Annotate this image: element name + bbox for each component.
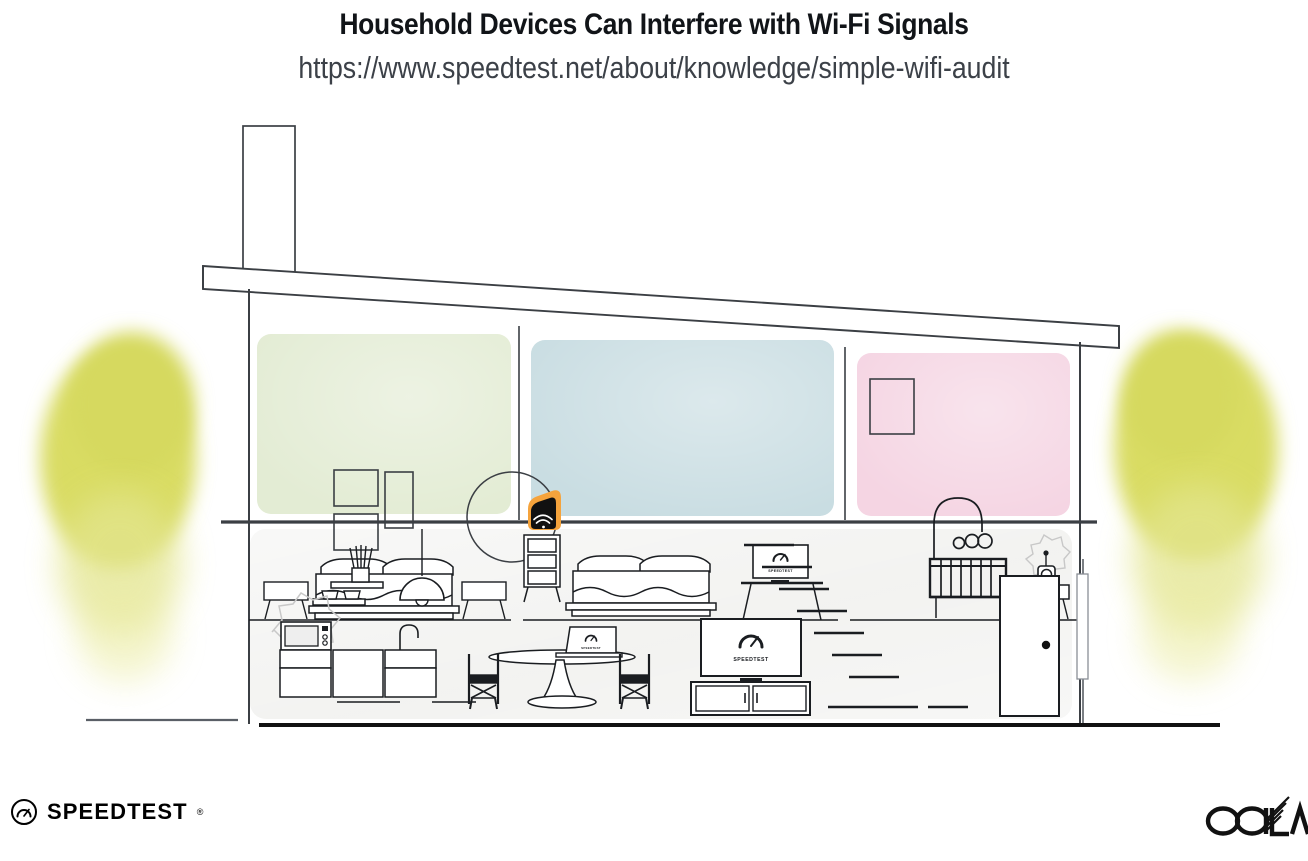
ookla-logo[interactable]	[1203, 796, 1308, 847]
house-cutaway-illustration: SPEEDTEST	[0, 104, 1308, 754]
bedroom-green	[257, 334, 511, 514]
front-door[interactable]	[1000, 576, 1059, 716]
speedtest-wordmark: SPEEDTEST	[47, 799, 188, 825]
speedtest-registered-mark: ®	[197, 807, 204, 817]
window-post	[1077, 559, 1088, 724]
speedtest-logo[interactable]: SPEEDTEST ®	[10, 798, 203, 826]
tree-right	[1114, 330, 1278, 682]
bed-blue	[566, 556, 716, 616]
footer: SPEEDTEST ®	[0, 780, 1308, 861]
bedroom-blue	[531, 340, 834, 516]
television: SPEEDTEST	[701, 619, 801, 682]
media-console	[691, 682, 810, 715]
page-url: https://www.speedtest.net/about/knowledg…	[92, 42, 1217, 86]
laptop-screen-label: SPEEDTEST	[581, 646, 601, 650]
monitor-screen-label: SPEEDTEST	[768, 569, 793, 573]
header: Household Devices Can Interfere with Wi-…	[0, 0, 1308, 86]
ookla-wordmark	[1203, 796, 1308, 842]
monitor: SPEEDTEST	[753, 545, 808, 583]
chimney	[243, 126, 295, 276]
page-title: Household Devices Can Interfere with Wi-…	[78, 0, 1229, 42]
speedtest-gauge-icon	[10, 798, 38, 826]
tv-screen-label: SPEEDTEST	[733, 657, 769, 663]
door-knob-icon[interactable]	[1042, 641, 1050, 649]
tree-left	[40, 332, 196, 682]
